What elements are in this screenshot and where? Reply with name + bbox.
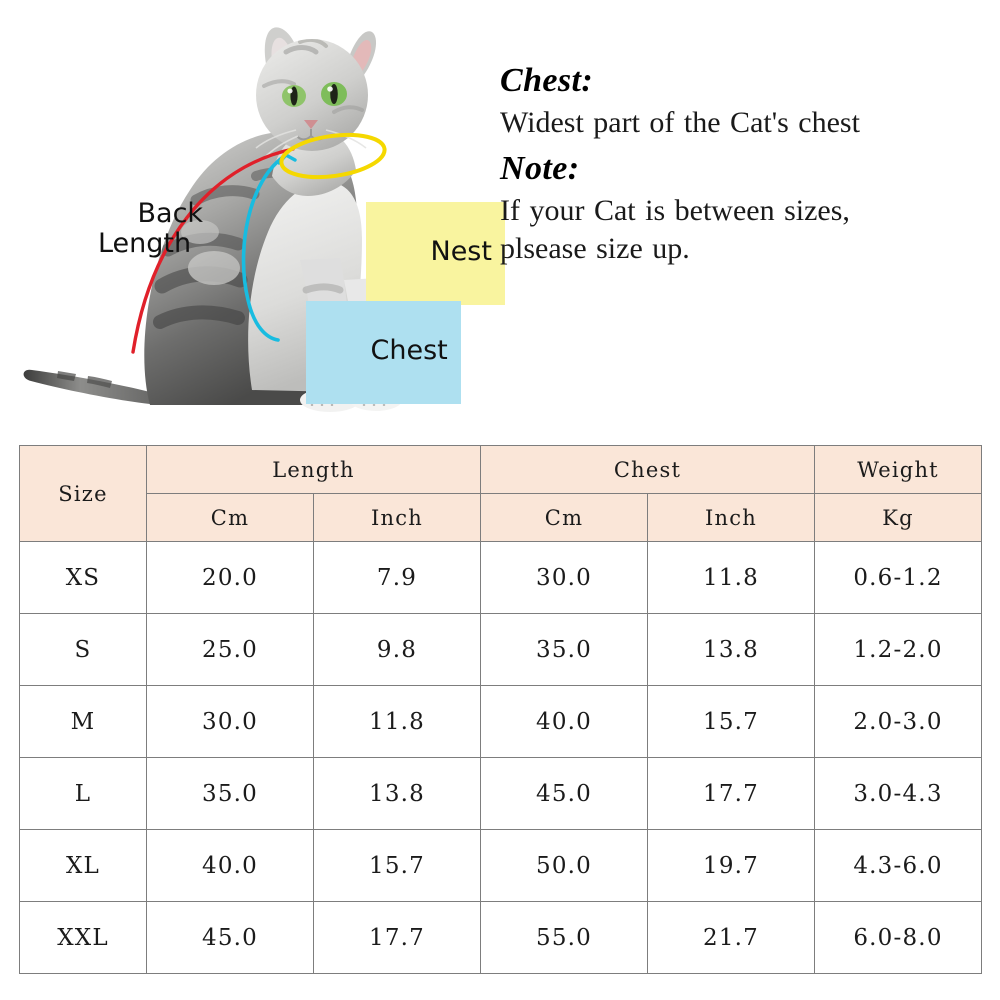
- cell-size: XXL: [20, 902, 147, 974]
- measurement-info-block: Chest: Widest part of the Cat's chest No…: [500, 62, 990, 266]
- table-row: XS 20.0 7.9 30.0 11.8 0.6-1.2: [20, 542, 982, 614]
- header-size: Size: [20, 446, 147, 542]
- back-length-text: Back Length: [98, 198, 203, 259]
- label-chest: Chest: [306, 301, 461, 404]
- cell-length-inch: 11.8: [314, 686, 481, 758]
- cell-length-inch: 9.8: [314, 614, 481, 686]
- table-header-row-units: Cm Inch Cm Inch Kg: [20, 494, 982, 542]
- table-header: Size Length Chest Weight Cm Inch Cm Inch…: [20, 446, 982, 542]
- cell-size: S: [20, 614, 147, 686]
- table-row: XL 40.0 15.7 50.0 19.7 4.3-6.0: [20, 830, 982, 902]
- cell-chest-cm: 55.0: [481, 902, 648, 974]
- cell-size: XS: [20, 542, 147, 614]
- cell-chest-cm: 35.0: [481, 614, 648, 686]
- cell-length-cm: 30.0: [147, 686, 314, 758]
- note-line-2: plsease size up.: [500, 232, 990, 266]
- cell-chest-inch: 19.7: [648, 830, 815, 902]
- header-unit-weight-kg: Kg: [815, 494, 982, 542]
- cell-length-inch: 15.7: [314, 830, 481, 902]
- cell-weight-kg: 3.0-4.3: [815, 758, 982, 830]
- chest-text: Chest: [371, 335, 448, 366]
- header-unit-chest-cm: Cm: [481, 494, 648, 542]
- cell-size: L: [20, 758, 147, 830]
- note-line-1: If your Cat is between sizes,: [500, 194, 990, 228]
- cell-length-cm: 40.0: [147, 830, 314, 902]
- cell-chest-inch: 21.7: [648, 902, 815, 974]
- cell-chest-inch: 17.7: [648, 758, 815, 830]
- header-unit-length-inch: Inch: [314, 494, 481, 542]
- table-body: XS 20.0 7.9 30.0 11.8 0.6-1.2 S 25.0 9.8…: [20, 542, 982, 974]
- header-section: Back Length Nest Chest Chest: Widest par…: [0, 0, 1000, 430]
- chest-description: Widest part of the Cat's chest: [500, 106, 990, 140]
- cell-chest-cm: 30.0: [481, 542, 648, 614]
- cell-chest-inch: 11.8: [648, 542, 815, 614]
- cell-length-inch: 13.8: [314, 758, 481, 830]
- cell-length-cm: 35.0: [147, 758, 314, 830]
- cell-weight-kg: 6.0-8.0: [815, 902, 982, 974]
- cell-length-inch: 17.7: [314, 902, 481, 974]
- cell-length-cm: 25.0: [147, 614, 314, 686]
- header-group-weight: Weight: [815, 446, 982, 494]
- cell-size: XL: [20, 830, 147, 902]
- note-heading: Note:: [500, 150, 990, 188]
- table-row: M 30.0 11.8 40.0 15.7 2.0-3.0: [20, 686, 982, 758]
- header-group-length: Length: [147, 446, 481, 494]
- table-row: L 35.0 13.8 45.0 17.7 3.0-4.3: [20, 758, 982, 830]
- table-header-row-groups: Size Length Chest Weight: [20, 446, 982, 494]
- cell-chest-inch: 13.8: [648, 614, 815, 686]
- cell-chest-cm: 45.0: [481, 758, 648, 830]
- header-unit-length-cm: Cm: [147, 494, 314, 542]
- cell-length-cm: 20.0: [147, 542, 314, 614]
- label-back-length: Back Length: [86, 169, 203, 290]
- cell-weight-kg: 0.6-1.2: [815, 542, 982, 614]
- cell-weight-kg: 1.2-2.0: [815, 614, 982, 686]
- chest-heading: Chest:: [500, 62, 990, 100]
- cat-measurement-illustration: Back Length Nest Chest: [0, 0, 480, 430]
- label-nest: Nest: [366, 202, 505, 305]
- cell-weight-kg: 4.3-6.0: [815, 830, 982, 902]
- header-group-chest: Chest: [481, 446, 815, 494]
- table-row: XXL 45.0 17.7 55.0 21.7 6.0-8.0: [20, 902, 982, 974]
- size-chart-table: Size Length Chest Weight Cm Inch Cm Inch…: [19, 445, 982, 974]
- size-chart-table-container: Size Length Chest Weight Cm Inch Cm Inch…: [19, 445, 982, 974]
- cell-chest-cm: 40.0: [481, 686, 648, 758]
- header-unit-chest-inch: Inch: [648, 494, 815, 542]
- cell-length-cm: 45.0: [147, 902, 314, 974]
- cell-weight-kg: 2.0-3.0: [815, 686, 982, 758]
- cell-size: M: [20, 686, 147, 758]
- nest-text: Nest: [431, 236, 492, 267]
- cell-chest-inch: 15.7: [648, 686, 815, 758]
- table-row: S 25.0 9.8 35.0 13.8 1.2-2.0: [20, 614, 982, 686]
- cell-chest-cm: 50.0: [481, 830, 648, 902]
- cell-length-inch: 7.9: [314, 542, 481, 614]
